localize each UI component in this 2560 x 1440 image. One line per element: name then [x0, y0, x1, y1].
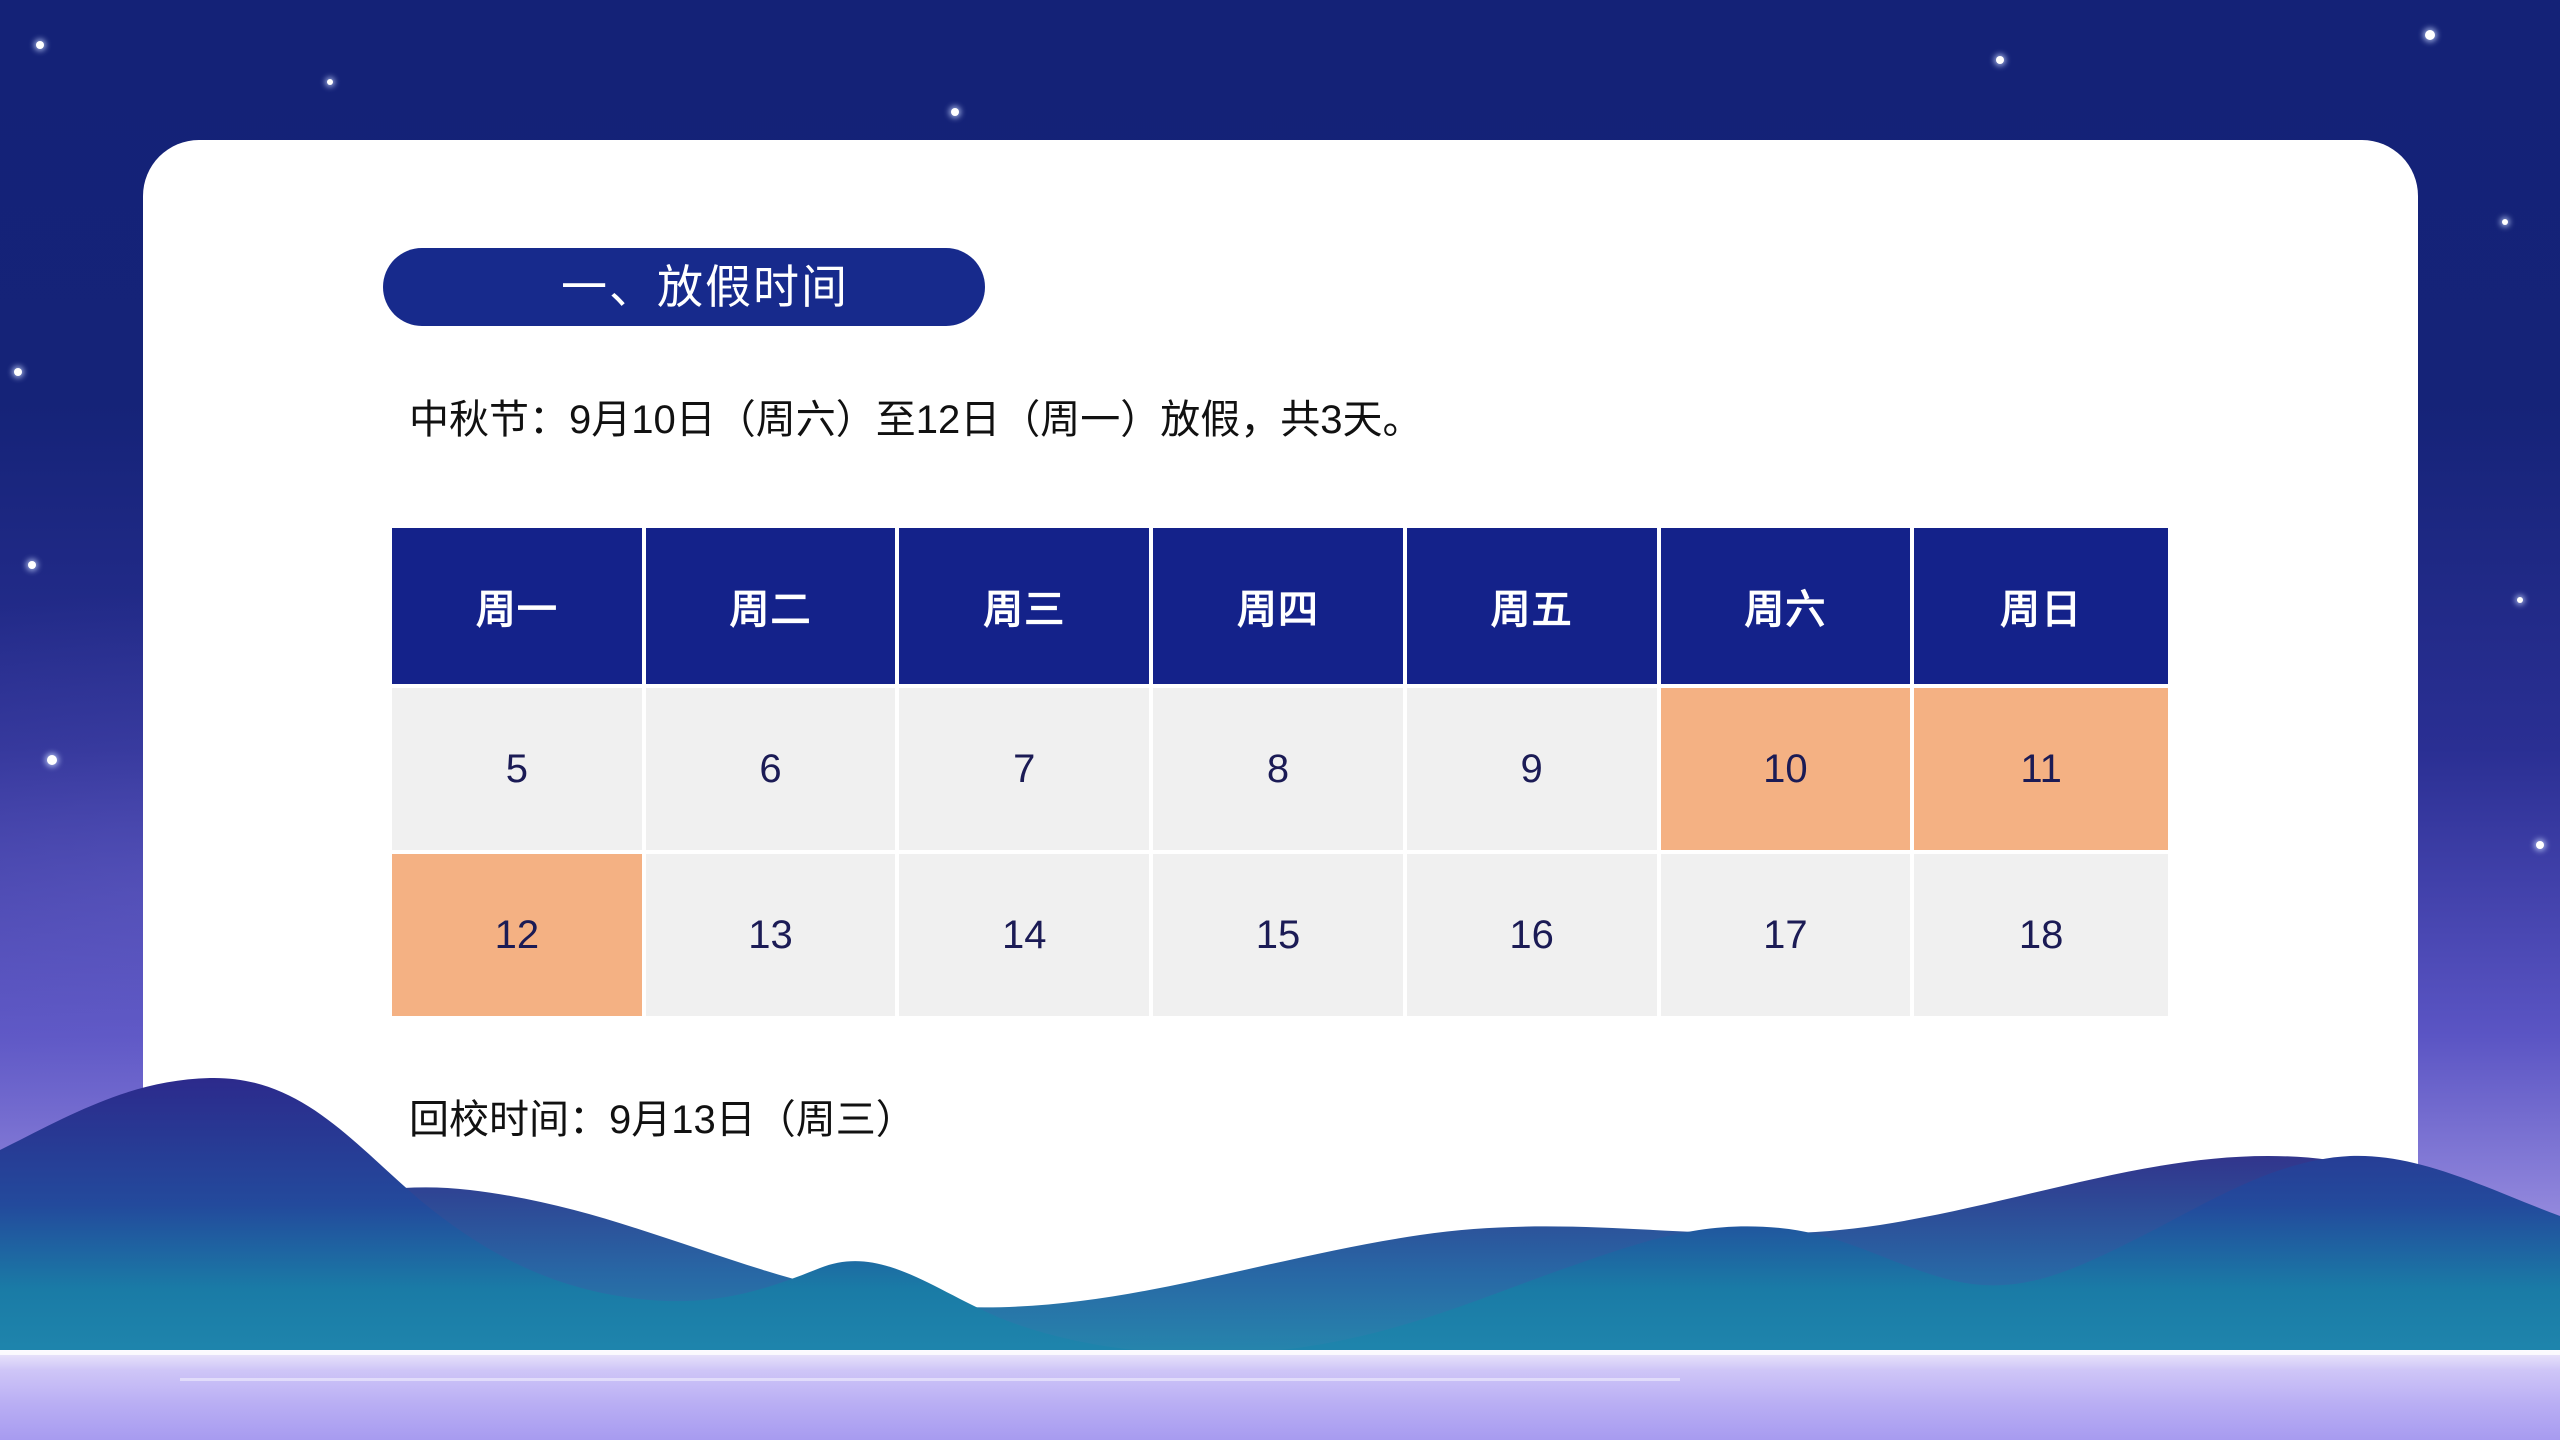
calendar-day-cell: 6	[646, 684, 900, 850]
calendar-day-cell: 17	[1661, 850, 1915, 1016]
star-icon	[1996, 56, 2004, 64]
calendar-day-cell-holiday: 10	[1661, 684, 1915, 850]
calendar-header-cell: 周四	[1153, 528, 1407, 684]
calendar-day-cell-holiday: 11	[1914, 684, 2168, 850]
star-icon	[14, 368, 22, 376]
calendar-day-cell: 15	[1153, 850, 1407, 1016]
star-icon	[2517, 597, 2523, 603]
calendar-day-cell: 7	[899, 684, 1153, 850]
return-to-school-text: 回校时间：9月13日（周三）	[409, 1100, 916, 1140]
calendar-day-cell: 18	[1914, 850, 2168, 1016]
calendar-header-cell: 周五	[1407, 528, 1661, 684]
star-icon	[2425, 30, 2435, 40]
calendar-body: 56789101112131415161718	[392, 684, 2168, 1016]
calendar-day-cell: 14	[899, 850, 1153, 1016]
slide-canvas: 一、放假时间 中秋节：9月10日（周六）至12日（周一）放假，共3天。 周一周二…	[0, 0, 2560, 1440]
star-icon	[951, 108, 959, 116]
star-icon	[2502, 219, 2508, 225]
calendar-header-cell: 周六	[1661, 528, 1915, 684]
star-icon	[28, 561, 36, 569]
calendar-day-cell: 5	[392, 684, 646, 850]
star-icon	[2536, 841, 2544, 849]
star-icon	[36, 41, 44, 49]
calendar-header-cell: 周三	[899, 528, 1153, 684]
calendar-day-cell: 8	[1153, 684, 1407, 850]
holiday-intro-text: 中秋节：9月10日（周六）至12日（周一）放假，共3天。	[409, 400, 1422, 440]
calendar-header-cell: 周一	[392, 528, 646, 684]
star-icon	[327, 79, 333, 85]
section-badge: 一、放假时间	[383, 248, 985, 326]
calendar-day-cell: 13	[646, 850, 900, 1016]
calendar-day-cell: 16	[1407, 850, 1661, 1016]
star-icon	[47, 755, 57, 765]
calendar-header-cell: 周二	[646, 528, 900, 684]
section-badge-label: 一、放假时间	[519, 264, 849, 310]
calendar-week-row: 567891011	[392, 684, 2168, 850]
calendar-week-row: 12131415161718	[392, 850, 2168, 1016]
calendar-day-cell-holiday: 12	[392, 850, 646, 1016]
calendar-day-cell: 9	[1407, 684, 1661, 850]
calendar-header-cell: 周日	[1914, 528, 2168, 684]
calendar-header-row: 周一周二周三周四周五周六周日	[392, 528, 2168, 684]
holiday-calendar-table: 周一周二周三周四周五周六周日 56789101112131415161718	[392, 528, 2168, 1016]
